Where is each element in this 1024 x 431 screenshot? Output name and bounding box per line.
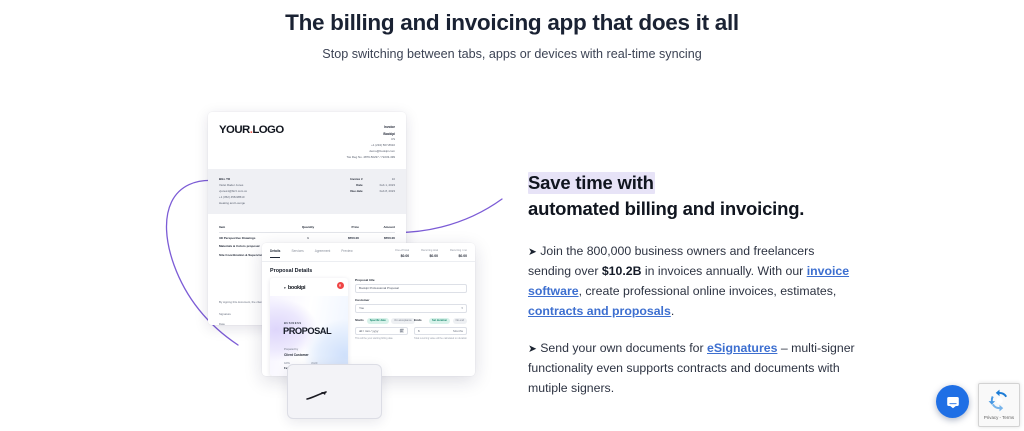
detail-value: Feb 8, 2023 <box>380 188 395 194</box>
proposal-toolbar: Details Services Agreement Preview One-o… <box>262 243 475 262</box>
col-price: Price <box>323 225 359 229</box>
chat-bubble-icon <box>945 394 961 410</box>
cell-item: 3D Perspective Drawings <box>219 236 293 240</box>
stat-label: One-off total <box>395 249 409 252</box>
field-customer: Customer You ▾ <box>355 298 467 313</box>
stat-value: $0.00 <box>395 254 409 258</box>
table-header-row: Item Quantity Price Amount <box>219 222 395 233</box>
field-label: Ends <box>414 318 422 322</box>
col-amount: Amount <box>359 225 395 229</box>
landing-section: The billing and invoicing app that does … <box>0 0 1024 431</box>
duration-input[interactable]: 6 Months <box>414 327 467 336</box>
recaptcha-icon <box>988 389 1011 412</box>
field-starts: Starts Specific date On acceptance dd / … <box>355 318 408 341</box>
invoice-detail-block: Invoice # Date Due date 10 Feb 1, 2023 F… <box>350 176 395 206</box>
proposal-editor-card: Details Services Agreement Preview One-o… <box>262 243 475 376</box>
starts-hint: This will be your starting billing date <box>355 337 408 341</box>
logo-main: YOUR <box>219 124 250 136</box>
starts-toggle-group: Specific date On acceptance <box>367 318 415 324</box>
stat-recurring-monthly: Recurring / mo $0.00 <box>450 249 467 258</box>
signature-pad-card[interactable] <box>287 364 382 419</box>
field-label: Starts <box>355 318 364 322</box>
invoice-billto-band: BILL TO Violet Rader Jones vjones1@bizz.… <box>208 169 406 214</box>
select-value: You <box>359 306 364 310</box>
bullet-arrow-icon: ➤ <box>528 343 537 355</box>
field-label: Proposal title <box>355 278 467 282</box>
signature-stroke-icon <box>306 391 328 401</box>
proposal-cover-thumbnail[interactable]: ▾ bookipi × BUSINESS PROPOSAL Prepared b… <box>270 278 348 376</box>
cover-kicker: BUSINESS <box>284 322 302 325</box>
field-row-dates: Starts Specific date On acceptance dd / … <box>355 318 467 341</box>
stat-label: Recurring / mo <box>450 249 467 252</box>
table-row: 3D Perspective Drawings 1 $550.00 $550.0… <box>219 233 395 242</box>
p2-text-1: Send your own documents for <box>537 341 707 355</box>
p1-text-3: , create professional online invoices, e… <box>579 284 837 298</box>
product-illustration: YOUR.LOGO Invoice Bookipi US +1 (234) 56… <box>150 95 550 425</box>
p1-text-2: in invoices annually. With our <box>642 264 807 278</box>
input-value: 6 <box>418 329 420 333</box>
bullet-arrow-icon: ➤ <box>528 246 537 258</box>
stat-recurring-total: Recurring total $0.00 <box>421 249 438 258</box>
cover-prepared: Prepared by Client Customer <box>284 348 309 357</box>
tab-agreement[interactable]: Agreement <box>315 249 331 258</box>
proposal-body: ▾ bookipi × BUSINESS PROPOSAL Prepared b… <box>262 278 475 377</box>
stat-label: Recurring total <box>421 249 438 252</box>
input-value: dd / mm / yyyy <box>359 329 378 333</box>
ends-hint: Total recurring value will be calculated… <box>414 337 467 341</box>
detail-key: Due date <box>350 188 362 194</box>
stat-value: $0.00 <box>421 254 438 258</box>
cover-brand: ▾ bookipi <box>284 285 305 291</box>
page-title: The billing and invoicing app that does … <box>0 8 1024 38</box>
field-ends: Ends Set duration No end 6 Months Total <box>414 318 467 341</box>
stat-value: $0.00 <box>450 254 467 258</box>
cell-amount: $550.00 <box>359 236 395 240</box>
prepared-label: Prepared by <box>284 348 309 351</box>
proposal-section-title: Proposal Details <box>262 262 475 278</box>
pill-specific-date[interactable]: Specific date <box>367 318 389 324</box>
invoice-company-meta: Invoice Bookipi US +1 (234) 567-8910 dem… <box>347 124 395 161</box>
duration-unit: Months <box>453 329 463 333</box>
p1-text-4: . <box>671 304 674 318</box>
page-subtitle: Stop switching between tabs, apps or dev… <box>0 47 1024 61</box>
feature-paragraph-2: ➤ Send your own documents for eSignature… <box>528 338 858 398</box>
proposal-form: Proposal title Bookipi Professional Prop… <box>355 278 467 376</box>
bill-to-block: BILL TO Violet Rader Jones vjones1@bizz.… <box>219 176 247 206</box>
feature-copy-block: Save time with automated billing and inv… <box>528 170 858 398</box>
invoice-detail-values: 10 Feb 1, 2023 Feb 8, 2023 <box>380 176 395 206</box>
bill-to-line: Heating and Lounge <box>219 200 247 206</box>
cell-price: $550.00 <box>323 236 359 240</box>
brand-name: bookipi <box>288 285 305 291</box>
tab-preview[interactable]: Preview <box>341 249 352 258</box>
cover-word: PROPOSAL <box>283 326 331 336</box>
intercom-chat-button[interactable] <box>936 385 969 418</box>
hero-header: The billing and invoicing app that does … <box>0 8 1024 61</box>
invoice-meta-line: Tax Reg No. 4879-50237 / 72233-499 <box>347 155 395 161</box>
tab-services[interactable]: Services <box>291 249 303 258</box>
field-proposal-title: Proposal title Bookipi Professional Prop… <box>355 278 467 293</box>
recaptcha-caption[interactable]: Privacy - Terms <box>984 415 1014 420</box>
pill-set-duration[interactable]: Set duration <box>429 318 450 324</box>
recaptcha-badge[interactable]: Privacy - Terms <box>978 383 1020 427</box>
feature-paragraph-1: ➤ Join the 800,000 business owners and f… <box>528 241 858 321</box>
invoice-detail-keys: Invoice # Date Due date <box>350 176 362 206</box>
proposal-title-input[interactable]: Bookipi Professional Proposal <box>355 284 467 293</box>
calendar-icon[interactable]: 🗓 <box>399 329 404 333</box>
proposal-totals: One-off total $0.00 Recurring total $0.0… <box>395 249 467 261</box>
field-label: Customer <box>355 298 467 302</box>
input-value: Bookipi Professional Proposal <box>359 286 399 290</box>
heading-line-2: automated billing and invoicing. <box>528 198 804 219</box>
link-contracts-proposals[interactable]: contracts and proposals <box>528 304 671 318</box>
customer-select[interactable]: You ▾ <box>355 304 467 313</box>
starts-header: Starts Specific date On acceptance <box>355 318 408 325</box>
tab-details[interactable]: Details <box>270 249 280 258</box>
col-qty: Quantity <box>293 225 323 229</box>
ends-toggle-group: Set duration No end <box>429 318 467 324</box>
prepared-value: Client Customer <box>284 353 309 357</box>
invoice-logo: YOUR.LOGO <box>219 124 284 161</box>
heading-line-1: Save time with <box>528 172 655 194</box>
link-esignatures[interactable]: eSignatures <box>707 341 777 355</box>
pill-on-acceptance[interactable]: On acceptance <box>391 318 414 324</box>
close-icon[interactable]: × <box>337 282 344 289</box>
invoice-header: YOUR.LOGO Invoice Bookipi US +1 (234) 56… <box>208 112 406 169</box>
p1-amount: $10.2B <box>602 264 642 278</box>
start-date-input[interactable]: dd / mm / yyyy 🗓 <box>355 327 408 336</box>
feature-heading: Save time with automated billing and inv… <box>528 170 858 223</box>
chevron-down-icon: ▾ <box>284 286 286 290</box>
stat-one-off: One-off total $0.00 <box>395 249 409 258</box>
cell-qty: 1 <box>293 236 323 240</box>
chevron-down-icon: ▾ <box>461 306 463 310</box>
proposal-tabs: Details Services Agreement Preview <box>270 249 353 258</box>
ends-header: Ends Set duration No end <box>414 318 467 325</box>
logo-rest: LOGO <box>252 124 283 136</box>
pill-no-end[interactable]: No end <box>453 318 467 324</box>
col-item: Item <box>219 225 293 229</box>
